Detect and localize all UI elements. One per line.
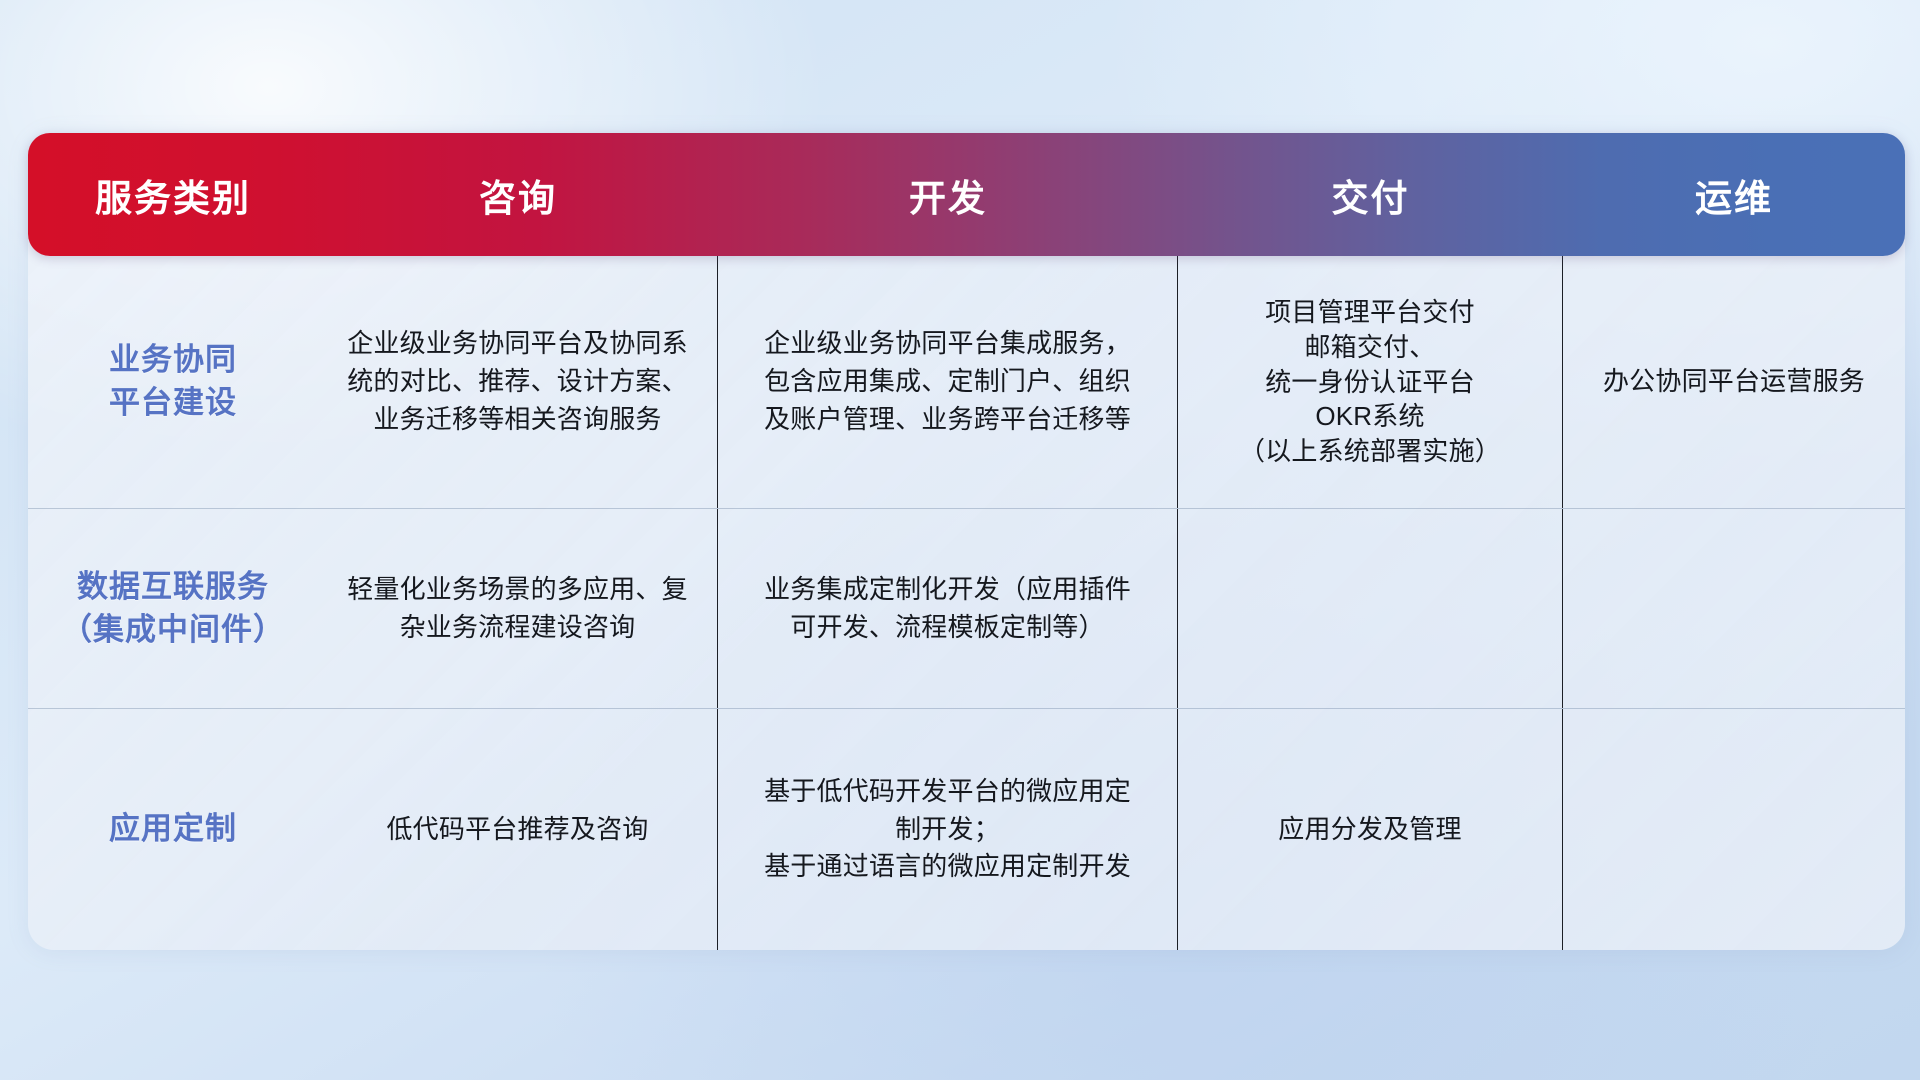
- table-header-row: 服务类别 咨询 开发 交付 运维: [28, 133, 1905, 256]
- row-label-cell: 业务协同平台建设: [28, 256, 318, 508]
- cell-operations: [1563, 709, 1905, 950]
- column-header-category[interactable]: 服务类别: [28, 168, 318, 222]
- cell-operations: 办公协同平台运营服务: [1563, 256, 1905, 508]
- row-label-business-collaboration: 业务协同平台建设: [109, 339, 237, 425]
- cell-delivery: 项目管理平台交付邮箱交付、统一身份认证平台OKR系统（以上系统部署实施）: [1178, 256, 1563, 508]
- cell-text: 轻量化业务场景的多应用、复杂业务流程建设咨询: [347, 571, 688, 646]
- row-label-cell: 应用定制: [28, 709, 318, 950]
- row-label-cell: 数据互联服务（集成中间件）: [28, 509, 318, 708]
- cell-text: 企业级业务协同平台集成服务，包含应用集成、定制门户、组织及账户管理、业务跨平台迁…: [764, 325, 1131, 438]
- cell-development: 基于低代码开发平台的微应用定制开发；基于通过语言的微应用定制开发: [718, 709, 1178, 950]
- slide-canvas: 服务类别 咨询 开发 交付 运维 业务协同平台建设 企业级业务协同平台及协同系统…: [0, 0, 1920, 1080]
- cell-text: 项目管理平台交付邮箱交付、统一身份认证平台OKR系统（以上系统部署实施）: [1239, 295, 1501, 469]
- cell-consulting: 轻量化业务场景的多应用、复杂业务流程建设咨询: [318, 509, 718, 708]
- table-body: 业务协同平台建设 企业级业务协同平台及协同系统的对比、推荐、设计方案、业务迁移等…: [28, 256, 1905, 950]
- cell-text: 应用分发及管理: [1278, 811, 1461, 849]
- row-label-application-customization: 应用定制: [109, 808, 237, 851]
- cell-text: 业务集成定制化开发（应用插件可开发、流程模板定制等）: [764, 571, 1131, 646]
- cell-consulting: 低代码平台推荐及咨询: [318, 709, 718, 950]
- cell-text: 基于低代码开发平台的微应用定制开发；基于通过语言的微应用定制开发: [764, 773, 1131, 886]
- table-row: 应用定制 低代码平台推荐及咨询 基于低代码开发平台的微应用定制开发；基于通过语言…: [28, 709, 1905, 950]
- cell-delivery: 应用分发及管理: [1178, 709, 1563, 950]
- cell-delivery: [1178, 509, 1563, 708]
- cell-consulting: 企业级业务协同平台及协同系统的对比、推荐、设计方案、业务迁移等相关咨询服务: [318, 256, 718, 508]
- table-row: 数据互联服务（集成中间件） 轻量化业务场景的多应用、复杂业务流程建设咨询 业务集…: [28, 509, 1905, 709]
- column-header-development[interactable]: 开发: [718, 168, 1178, 222]
- column-header-operations[interactable]: 运维: [1563, 168, 1905, 222]
- cell-text: 办公协同平台运营服务: [1603, 363, 1865, 401]
- column-header-consulting[interactable]: 咨询: [318, 168, 718, 222]
- cell-operations: [1563, 509, 1905, 708]
- table-row: 业务协同平台建设 企业级业务协同平台及协同系统的对比、推荐、设计方案、业务迁移等…: [28, 256, 1905, 509]
- row-label-data-interconnection: 数据互联服务（集成中间件）: [61, 566, 285, 652]
- cell-development: 业务集成定制化开发（应用插件可开发、流程模板定制等）: [718, 509, 1178, 708]
- cell-development: 企业级业务协同平台集成服务，包含应用集成、定制门户、组织及账户管理、业务跨平台迁…: [718, 256, 1178, 508]
- cell-text: 低代码平台推荐及咨询: [386, 811, 648, 849]
- column-header-delivery[interactable]: 交付: [1178, 168, 1563, 222]
- cell-text: 企业级业务协同平台及协同系统的对比、推荐、设计方案、业务迁移等相关咨询服务: [347, 325, 688, 438]
